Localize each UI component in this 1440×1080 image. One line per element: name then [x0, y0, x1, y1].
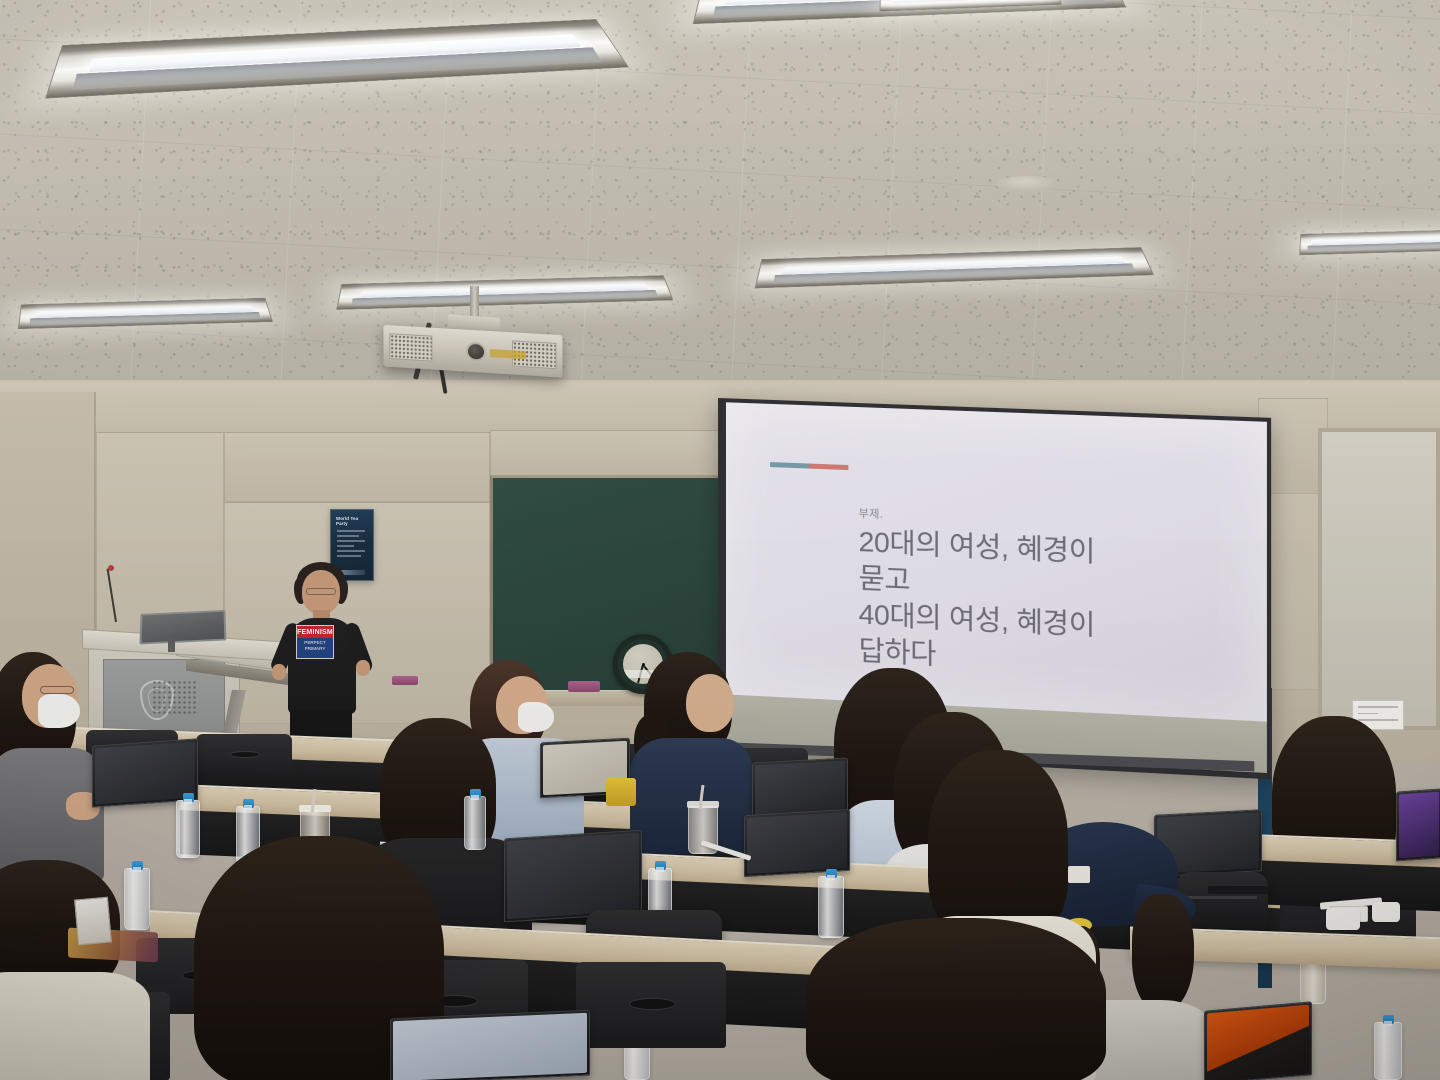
- presenter-hand-left: [272, 664, 286, 680]
- bottle-neck: [184, 799, 192, 804]
- presenter-glasses-icon: [306, 588, 336, 595]
- laptop-screen: [393, 1013, 587, 1080]
- projector-label-sticker: [490, 349, 526, 359]
- snack-pouch-yellow[interactable]: [606, 778, 636, 806]
- student-foreground-center: [806, 918, 1106, 1080]
- charging-brick-right-2: [1372, 902, 1400, 922]
- bottle-neck: [1384, 1021, 1392, 1026]
- lectern-monitor-stand: [168, 638, 175, 652]
- microphone-antenna-tip: [108, 565, 114, 571]
- eyeglasses-icon: [40, 686, 74, 694]
- bottle-neck: [244, 805, 252, 810]
- wall-panel-b: [224, 432, 490, 502]
- light-tube: [891, 0, 1048, 3]
- cup-lid: [687, 801, 719, 808]
- slide-surface: 부제. 20대의 여성, 혜경이 묻고 40대의 여성, 혜경이 답하다: [726, 402, 1267, 723]
- lecture-hall-photo: 부제. 20대의 여성, 혜경이 묻고 40대의 여성, 혜경이 답하다 Wor…: [0, 0, 1440, 1080]
- wall-panel-d: [490, 430, 736, 476]
- paper-packet-left[interactable]: [74, 897, 112, 946]
- student-foreground-far-left: [0, 860, 150, 1080]
- ceiling-light-6: [1299, 229, 1440, 255]
- chair-r1-b[interactable]: [196, 734, 292, 774]
- poster-body-lines: [337, 530, 365, 560]
- presentation-slide: 부제. 20대의 여성, 혜경이 묻고 40대의 여성, 혜경이 답하다: [726, 402, 1267, 723]
- cup-lid: [299, 805, 331, 812]
- laptop-center-d[interactable]: [504, 830, 642, 923]
- lectern-speaker-grille: [152, 680, 198, 714]
- bottle-neck: [656, 867, 664, 872]
- slide-accent-rule: [770, 462, 848, 470]
- student-torso: [0, 972, 150, 1080]
- projector-lens: [466, 342, 486, 362]
- face-mask-icon: [38, 694, 80, 728]
- chair-r4-c[interactable]: [576, 962, 726, 1048]
- laptop-screen: [507, 833, 639, 919]
- laptop-far-right[interactable]: [1396, 788, 1440, 861]
- tshirt-graphic-top-text: FEMINISM: [297, 626, 333, 638]
- chalk-eraser-secondary[interactable]: [392, 676, 418, 685]
- water-bottle-7[interactable]: [1374, 1022, 1402, 1080]
- bottle-neck: [471, 795, 479, 800]
- side-door[interactable]: [1318, 428, 1440, 730]
- student-hair: [806, 918, 1106, 1080]
- tablet-screen: [1207, 1005, 1309, 1080]
- slide-text-block: 부제. 20대의 여성, 혜경이 묻고 40대의 여성, 혜경이 답하다: [770, 501, 1225, 687]
- laptop-screen: [755, 761, 845, 818]
- charging-brick-right: [1326, 908, 1360, 930]
- student-head: [686, 674, 734, 732]
- projector-vent-left: [389, 333, 432, 361]
- bottle-neck: [827, 875, 835, 880]
- laptop-bottom-left[interactable]: [390, 1010, 590, 1080]
- laptop-center-c[interactable]: [744, 809, 850, 877]
- laptop-screen: [747, 812, 847, 874]
- water-bottle-4[interactable]: [464, 796, 486, 850]
- tablet-orange-screen[interactable]: [1204, 1001, 1312, 1080]
- laptop-screen: [95, 742, 195, 805]
- laptop-screen: [1399, 792, 1439, 859]
- tshirt-graphic-bottom-text: PERFECT PRIMARY: [297, 638, 333, 658]
- student-hair: [928, 750, 1068, 942]
- poster-title: World Tea Party: [336, 517, 368, 527]
- ceiling-speaker-1: [996, 176, 1060, 192]
- iced-coffee-cup-3[interactable]: [1300, 960, 1326, 1004]
- tshirt-graphic: FEMINISM PERFECT PRIMARY: [296, 625, 334, 659]
- student-hair-side: [1132, 894, 1194, 1012]
- presenter-hand-right: [356, 660, 370, 676]
- desk-slot-1: [1208, 886, 1268, 894]
- lectern-monitor: [139, 610, 226, 645]
